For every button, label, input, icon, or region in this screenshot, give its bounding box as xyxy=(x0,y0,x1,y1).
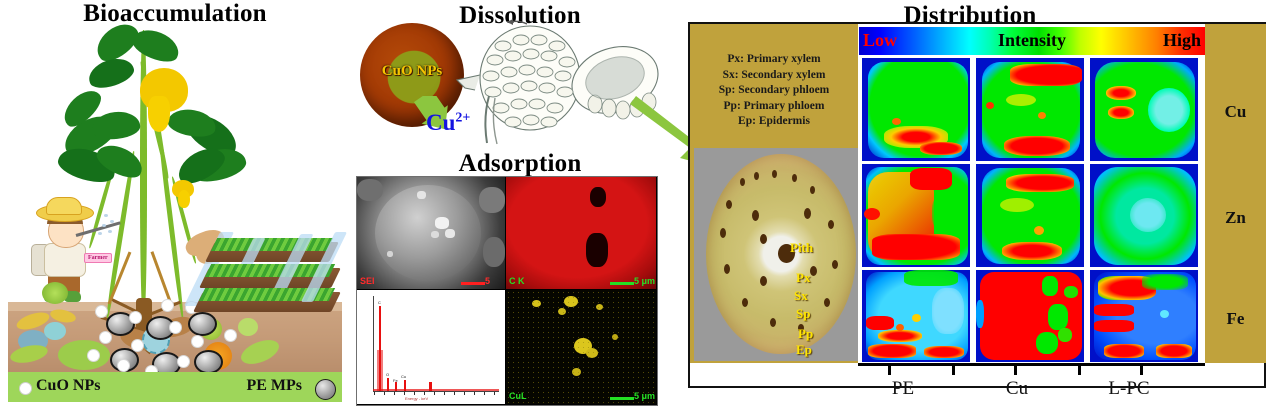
dissolution-adsorption-panel: Dissolution Adsorption CuO NPs xyxy=(350,0,685,411)
sem-particle xyxy=(375,185,481,281)
col-label-pe: PE xyxy=(863,378,943,400)
vascular-bundle xyxy=(828,220,834,229)
eds-xlabel: Energy - keV xyxy=(405,396,428,401)
eds-copper-label: CuL xyxy=(509,391,527,401)
leaf xyxy=(91,110,142,142)
key-line: Ep: Epidermis xyxy=(690,114,858,130)
farmer-body xyxy=(44,243,86,277)
vascular-bundle xyxy=(726,200,732,209)
leaf xyxy=(166,106,218,140)
cuo-nanoparticle xyxy=(162,300,173,311)
distribution-panel: Distribution Px: Primary xylem Sx: Secon… xyxy=(685,0,1269,411)
spray-droplet xyxy=(98,232,102,235)
flower-small-petal xyxy=(178,190,190,208)
key-line: Px: Primary xylem xyxy=(690,52,858,68)
leaf xyxy=(85,54,137,93)
vascular-bundle xyxy=(824,298,830,307)
copper-ion-charge: 2+ xyxy=(455,110,470,125)
eds-map-carbon: C K 5 μm xyxy=(506,177,656,289)
eds-map-copper: CuL 5 μm xyxy=(506,290,656,404)
eds-carbon-signal xyxy=(506,177,656,289)
legend-pe-mps: PE MPs xyxy=(246,377,302,395)
vascular-bundle xyxy=(740,178,745,186)
adsorption-title: Adsorption xyxy=(405,150,635,178)
vascular-bundle xyxy=(752,210,759,221)
heatmap-fe-cu xyxy=(976,270,1084,362)
spray-droplet xyxy=(108,230,112,233)
root-shoot xyxy=(151,251,173,305)
spray-droplet xyxy=(110,220,114,223)
label-sp: Sp xyxy=(796,306,810,322)
field-crop xyxy=(211,238,333,251)
label-ep: Ep xyxy=(796,342,812,358)
vascular-bundle xyxy=(832,260,838,269)
eds-copper-scalebar xyxy=(610,397,634,400)
spray-droplet xyxy=(104,214,108,217)
key-line: Pp: Primary phloem xyxy=(690,99,858,115)
colorbar-high-label: High xyxy=(1163,30,1201,51)
vascular-bundle xyxy=(742,298,748,307)
vascular-bundle xyxy=(754,172,759,180)
heatmap-cu-cu xyxy=(976,58,1084,161)
x-axis-tick xyxy=(1140,366,1143,375)
crop-field xyxy=(196,232,348,318)
sem-sei-image: SEI 5 μm xyxy=(357,177,505,289)
graphical-abstract: Bioaccumulation xyxy=(0,0,1269,411)
sem-background-particle xyxy=(483,237,505,267)
vascular-bundle xyxy=(760,234,767,244)
vascular-bundle xyxy=(792,174,797,182)
sem-eds-grid: SEI 5 μm C K 5 μm xyxy=(356,176,658,406)
key-line: Sp: Secondary phloem xyxy=(690,83,858,99)
spray-droplet xyxy=(102,224,106,227)
anatomy-key: Px: Primary xylem Sx: Secondary xylem Sp… xyxy=(690,52,858,130)
vascular-bundle xyxy=(720,228,726,238)
pe-microplastic xyxy=(194,350,223,374)
cuo-nanoparticle xyxy=(170,322,181,333)
x-axis-tick xyxy=(1014,366,1017,375)
legend-cuo-nps: CuO NPs xyxy=(36,377,100,395)
sun-hat-crown-icon xyxy=(46,197,82,215)
cuo-nanoparticle xyxy=(178,356,189,367)
label-px: Px xyxy=(796,270,810,286)
heatmap-zn-cu xyxy=(976,164,1084,267)
x-axis-tick xyxy=(952,366,955,375)
grey-sphere-icon xyxy=(315,379,336,400)
eds-void xyxy=(590,187,606,207)
col-label-lpc: L-PC xyxy=(1089,378,1169,400)
sem-deposit xyxy=(435,217,449,229)
label-sx: Sx xyxy=(794,288,808,304)
soil-seed xyxy=(58,340,110,370)
cuo-nanoparticle xyxy=(88,350,99,361)
vascular-bundle xyxy=(770,318,776,327)
heatmap-fe-pe xyxy=(862,270,970,362)
heatmap-cu-lpc xyxy=(1090,58,1198,161)
row-label-cu: Cu xyxy=(1205,102,1266,122)
sem-sei-scalebar xyxy=(461,282,485,285)
vascular-bundle xyxy=(810,266,817,276)
farmer-banner: Farmer xyxy=(84,253,112,263)
distribution-figure: Px: Primary xylem Sx: Secondary xylem Sp… xyxy=(688,22,1266,388)
cuo-nanoparticle xyxy=(130,312,141,323)
vascular-bundle xyxy=(772,170,777,178)
row-label-zn: Zn xyxy=(1205,208,1266,228)
eds-label-o: O xyxy=(386,372,389,377)
eds-carbon-scalebar xyxy=(610,282,634,285)
sem-deposit xyxy=(431,231,439,238)
eds-cu-noise xyxy=(506,290,656,404)
sem-background-particle xyxy=(479,187,505,213)
label-pp: Pp xyxy=(798,326,813,342)
row-label-fe: Fe xyxy=(1205,309,1266,329)
bioaccumulation-panel: Bioaccumulation xyxy=(0,0,350,411)
sem-sei-label: SEI xyxy=(360,276,375,286)
vascular-bundle xyxy=(804,208,811,219)
eds-xticks xyxy=(374,392,500,395)
colorbar-title: Intensity xyxy=(859,30,1205,51)
heatmap-zn-lpc xyxy=(1090,164,1198,267)
sem-deposit xyxy=(387,251,393,257)
eds-label-c: C xyxy=(378,300,381,305)
copper-ion-label: Cu2+ xyxy=(426,110,470,136)
left-legend: CuO NPs PE MPs xyxy=(8,372,342,402)
sem-deposit xyxy=(445,229,455,238)
bioaccumulation-title: Bioaccumulation xyxy=(0,0,350,28)
cuo-nanoparticle xyxy=(118,360,129,371)
cuo-np-label: CuO NPs xyxy=(364,63,460,80)
cuo-nanoparticle xyxy=(100,332,111,343)
eds-baseline xyxy=(373,389,499,391)
key-line: Sx: Secondary xylem xyxy=(690,68,858,84)
vascular-bundle xyxy=(810,186,815,194)
eds-void xyxy=(586,233,608,267)
sem-deposit xyxy=(417,191,426,199)
x-axis-line xyxy=(858,363,1205,366)
eds-copper-scale-text: 5 μm xyxy=(634,391,655,401)
eds-peak-c-base xyxy=(377,350,383,391)
vascular-bundle xyxy=(760,276,767,286)
soil-microbe xyxy=(44,322,66,340)
eds-carbon-label: C K xyxy=(509,276,525,286)
white-circle-icon xyxy=(20,383,31,394)
eds-spectrum: C O Cu Fe Energy - keV xyxy=(357,290,505,404)
eds-carbon-scale-text: 5 μm xyxy=(634,276,655,286)
cuo-nanoparticle xyxy=(225,330,236,341)
cuo-nanoparticle xyxy=(192,336,203,347)
eds-yaxis xyxy=(373,296,374,392)
flower-petal xyxy=(148,96,170,132)
x-axis-tick xyxy=(1078,366,1081,375)
cuo-nanoparticle xyxy=(132,340,143,351)
soil-microbe xyxy=(238,318,258,336)
label-pith: Pith xyxy=(790,240,813,256)
x-axis-tick xyxy=(888,366,891,375)
farmer-icon: Farmer xyxy=(18,196,114,304)
eds-label-fe: Fe xyxy=(393,378,398,383)
col-label-cu: Cu xyxy=(977,378,1057,400)
heatmap-fe-lpc xyxy=(1090,270,1198,362)
heatmap-cu-pe xyxy=(862,58,970,161)
intensity-colorbar: Low Intensity High xyxy=(859,27,1205,55)
sem-sei-scale-text: 5 μm xyxy=(485,276,505,289)
sem-background-particle xyxy=(357,179,383,201)
farmer-basket xyxy=(42,282,68,304)
cuo-nanoparticle xyxy=(96,306,107,317)
heatmap-zn-pe xyxy=(862,164,970,267)
stem-cross-section: Pith Px Sx Sp Pp Ep xyxy=(694,148,858,361)
copper-ion-symbol: Cu xyxy=(426,110,455,135)
vascular-bundle xyxy=(724,264,730,274)
eds-label-cu: Cu xyxy=(401,374,406,379)
